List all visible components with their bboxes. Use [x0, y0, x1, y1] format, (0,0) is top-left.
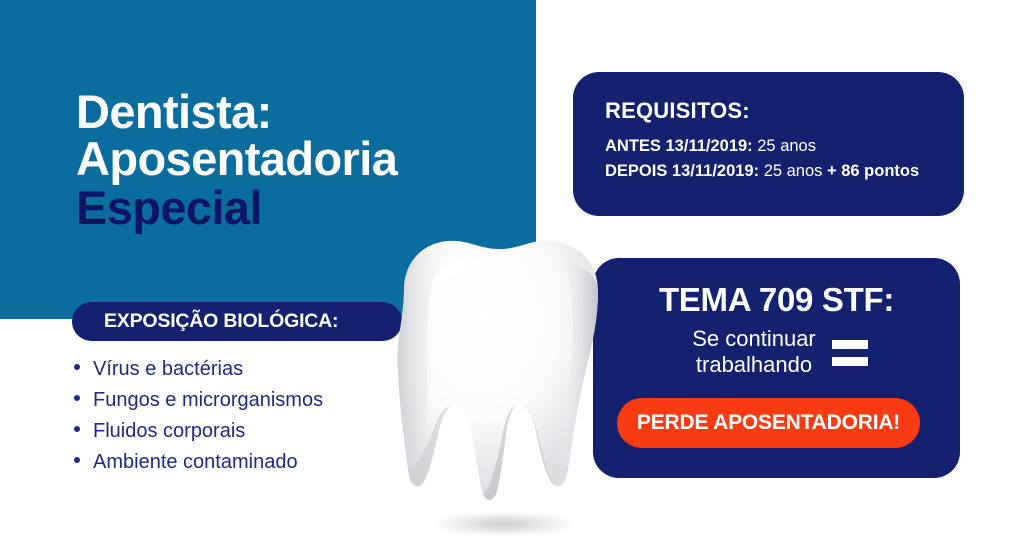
infographic-canvas: Dentista: Aposentadoria Especial EXPOSIÇ…: [0, 0, 1024, 541]
requisitos-row-depois: DEPOIS 13/11/2019: 25 anos + 86 pontos: [605, 162, 919, 181]
requisitos-row-antes-label: ANTES 13/11/2019:: [605, 137, 753, 155]
requisitos-card: REQUISITOS: ANTES 13/11/2019: 25 anos DE…: [573, 72, 964, 216]
page-title: Dentista: Aposentadoria Especial: [76, 88, 536, 231]
requisitos-title: REQUISITOS:: [605, 98, 750, 124]
title-line-2: Aposentadoria: [76, 135, 536, 182]
bullet-dot-icon: [74, 395, 80, 401]
list-item-label: Fungos e microrganismos: [93, 385, 323, 416]
perde-aposentadoria-button[interactable]: PERDE APOSENTADORIA!: [617, 398, 920, 448]
exposure-badge-label: EXPOSIÇÃO BIOLÓGICA:: [72, 310, 338, 333]
exposure-badge: EXPOSIÇÃO BIOLÓGICA:: [72, 302, 402, 341]
tema-subtitle: Se continuar trabalhando: [692, 326, 816, 378]
exposure-list: Vírus e bactérias Fungos e microrganismo…: [74, 354, 323, 478]
bullet-dot-icon: [74, 364, 80, 370]
title-line-1: Dentista:: [76, 88, 536, 135]
list-item-label: Ambiente contaminado: [93, 447, 298, 478]
list-item-label: Fluidos corporais: [93, 416, 245, 447]
equals-bar-top: [832, 340, 868, 349]
tema-card: TEMA 709 STF: Se continuar trabalhando P…: [593, 258, 960, 478]
tema-subtitle-line-1: Se continuar: [692, 326, 816, 352]
list-item: Fluidos corporais: [74, 416, 323, 447]
requisitos-row-depois-label: DEPOIS 13/11/2019:: [605, 162, 759, 180]
tema-subtitle-line-2: trabalhando: [692, 352, 816, 378]
requisitos-row-antes: ANTES 13/11/2019: 25 anos: [605, 137, 816, 156]
equals-bar-bottom: [832, 357, 868, 366]
requisitos-row-depois-bonus: + 86 pontos: [827, 162, 919, 180]
list-item: Fungos e microrganismos: [74, 385, 323, 416]
bullet-dot-icon: [74, 426, 80, 432]
requisitos-row-depois-value: 25 anos: [759, 162, 827, 180]
list-item-label: Vírus e bactérias: [93, 354, 243, 385]
title-line-3: Especial: [76, 184, 536, 231]
list-item: Vírus e bactérias: [74, 354, 323, 385]
equals-icon: [832, 338, 868, 366]
molar-tooth-icon: [386, 232, 616, 540]
bullet-dot-icon: [74, 457, 80, 463]
tema-title: TEMA 709 STF:: [593, 281, 960, 319]
requisitos-row-antes-value: 25 anos: [753, 137, 816, 155]
tema-condition: Se continuar trabalhando: [615, 326, 945, 378]
list-item: Ambiente contaminado: [74, 447, 323, 478]
